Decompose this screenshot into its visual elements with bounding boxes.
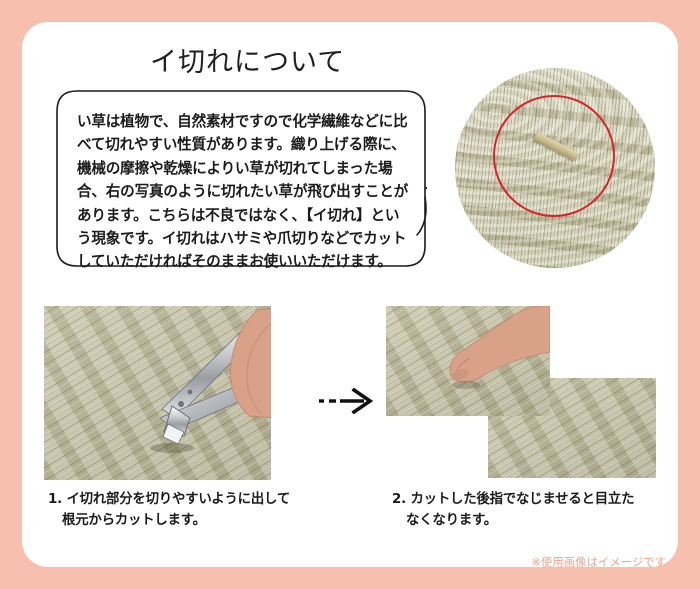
step-1-photo xyxy=(44,306,271,480)
product-info-graphic: イ切れについて い草は植物で、自然素材ですので化学繊維などに比べて切れやすい性質… xyxy=(0,0,700,589)
step-2-caption: 2. カットした後指でなじませると目立た なくなります。 xyxy=(392,489,691,531)
red-highlight-circle xyxy=(493,95,615,217)
page-title: イ切れについて xyxy=(150,40,345,79)
step-2-photo xyxy=(386,306,550,416)
hand-icon xyxy=(205,308,271,418)
step-1-caption: 1. イ切れ部分を切りやすいように出して 根元からカットします。 xyxy=(48,489,362,531)
image-disclaimer-note: ※使用画像はイメージです xyxy=(531,554,666,570)
finger-icon xyxy=(386,306,550,416)
description-speech-bubble: い草は植物で、自然素材ですので化学繊維などに比べて切れやすい性質があります。織り… xyxy=(55,89,427,268)
dashed-arrow-right-icon xyxy=(318,388,374,414)
description-text: い草は植物で、自然素材ですので化学繊維などに比べて切れやすい性質があります。織り… xyxy=(77,110,413,274)
igusa-closeup-circle-photo xyxy=(455,68,655,268)
